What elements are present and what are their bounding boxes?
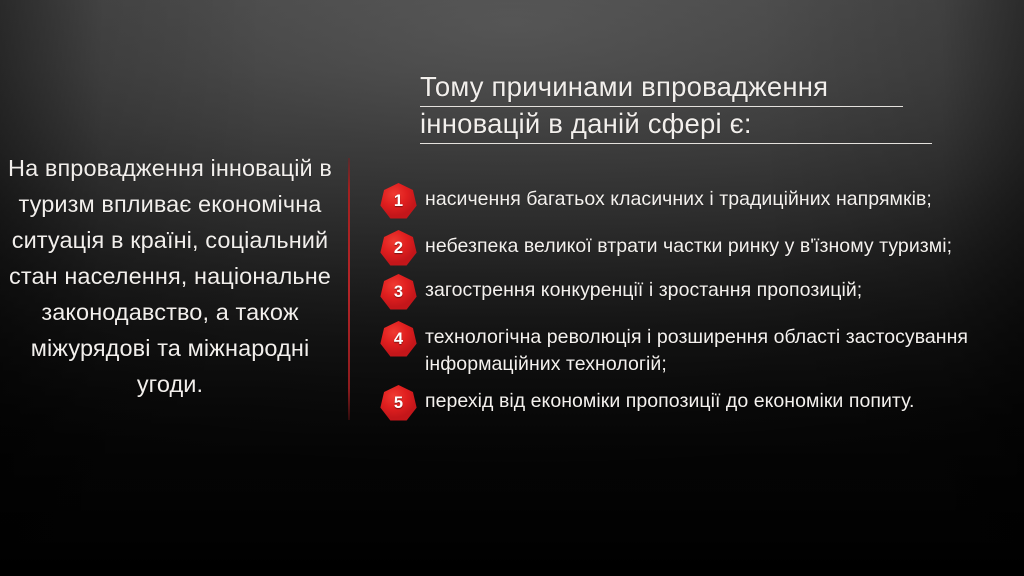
number-badge-icon: 5 [380,385,417,422]
list-item: 5 перехід від економіки пропозиції до ек… [380,384,1024,422]
badge-number: 5 [380,385,417,422]
presentation-slide: На впровадження інновацій в туризм вплив… [0,0,1024,576]
numbered-reasons-list: 1 насичення багатьох класичних і традиці… [380,182,1024,431]
left-paragraph: На впровадження інновацій в туризм вплив… [0,150,340,402]
badge-number: 3 [380,274,417,311]
right-column: Тому причинами впровадження інновацій в … [420,70,1020,144]
number-badge-icon: 4 [380,321,417,358]
page-title-line-1: Тому причинами впровадження [420,70,932,107]
page-title-line-2: інновацій в даній сфері є: [420,107,932,144]
number-badge-icon: 3 [380,274,417,311]
list-item-text: насичення багатьох класичних і традиційн… [425,182,932,213]
list-item-text: технологічна революція і розширення обла… [425,320,1024,378]
number-badge-icon: 2 [380,230,417,267]
slide-content: На впровадження інновацій в туризм вплив… [0,0,1024,576]
vertical-red-divider [348,158,350,420]
list-item-text: загострення конкуренції і зростання проп… [425,273,862,304]
list-item: 4 технологічна революція і розширення об… [380,320,1024,378]
list-item: 2 небезпека великої втрати частки ринку … [380,229,1024,267]
badge-number: 1 [380,183,417,220]
list-item: 3 загострення конкуренції і зростання пр… [380,273,1024,311]
badge-number: 2 [380,230,417,267]
badge-number: 4 [380,321,417,358]
list-item-text: небезпека великої втрати частки ринку у … [425,229,952,260]
list-item-text: перехід від економіки пропозиції до екон… [425,384,914,415]
page-title: Тому причинами впровадження інновацій в … [420,70,932,144]
list-item: 1 насичення багатьох класичних і традиці… [380,182,1024,220]
number-badge-icon: 1 [380,183,417,220]
